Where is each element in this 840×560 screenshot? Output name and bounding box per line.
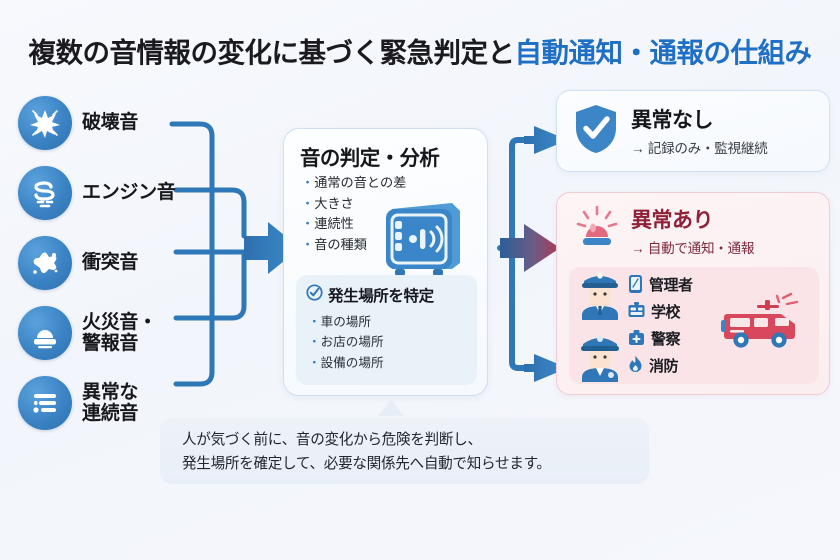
arrow-to-alert	[500, 224, 560, 272]
title-main: 複数の音情報の変化に基づく緊急判定と	[29, 37, 515, 68]
alarm-light-icon	[18, 306, 72, 360]
recipient-item-police[interactable]: 警察	[627, 326, 719, 353]
recipient-item-manager[interactable]: 管理者	[627, 272, 719, 299]
normal-subtitle: → 記録のみ・監視継続	[631, 137, 767, 157]
diagram-canvas: 複数の音情報の変化に基づく緊急判定と自動通知・通報の仕組み	[0, 0, 840, 560]
engine-icon	[18, 166, 72, 220]
caption-line-2: 発生場所を確定して、必要な関係先へ自動で知らせます。	[182, 453, 649, 477]
recipient-avatars	[569, 265, 627, 387]
title-accent: 自動通知・通報の仕組み	[515, 37, 812, 68]
normal-title: 異常なし	[631, 104, 767, 134]
source-label: 火災音・ 警報音	[82, 312, 157, 355]
analysis-title: 音の判定・分析	[300, 141, 439, 171]
alert-subtitle: → 自動で通知・通報	[631, 237, 754, 257]
locate-bullet: 設備の場所	[308, 353, 477, 373]
locate-heading: 発生場所を特定	[328, 284, 434, 306]
recipient-label: 管理者	[649, 278, 693, 293]
locate-subcard: 発生場所を特定 車の場所 お店の場所 設備の場所	[296, 275, 477, 385]
siren-icon	[573, 204, 621, 257]
locate-bullet: 車の場所	[308, 312, 477, 332]
caption-box: 人が気づく前に、音の変化から危険を判断し、 発生場所を確定して、必要な関係先へ自…	[160, 418, 649, 484]
source-label: エンジン音	[82, 182, 176, 203]
source-item-collision[interactable]: 衝突音	[18, 232, 208, 294]
source-item-destruction[interactable]: 破壊音	[18, 92, 208, 154]
locate-bullet: お店の場所	[308, 332, 477, 352]
smartphone-icon	[627, 274, 644, 297]
shield-check-icon	[573, 103, 619, 160]
source-label: 衝突音	[82, 252, 138, 273]
alert-title: 異常あり	[631, 204, 754, 234]
locate-bullets: 車の場所 お店の場所 設備の場所	[296, 308, 477, 373]
sound-safe-icon	[382, 201, 466, 284]
check-circle-icon	[306, 284, 323, 306]
analysis-card: 音の判定・分析 通常の音との差 大きさ 連続性 音の種類	[283, 128, 488, 396]
recipient-item-fire[interactable]: 消防	[627, 353, 719, 380]
police-box-icon	[627, 328, 646, 350]
waveform-icon	[18, 376, 72, 430]
recipient-label: 警察	[651, 332, 680, 347]
source-label: 破壊音	[82, 112, 138, 133]
alert-header: 異常あり → 自動で通知・通報	[557, 193, 829, 257]
caption-pointer-icon	[378, 400, 404, 416]
officer-avatar-1	[576, 265, 624, 325]
recipients-box: 管理者 学校	[569, 267, 819, 384]
recipients-list: 管理者 学校	[627, 272, 719, 380]
recipient-label: 消防	[649, 359, 678, 374]
caption-line-1: 人が気づく前に、音の変化から危険を判断し、	[182, 429, 649, 453]
sound-sources-list: 破壊音 エンジン音	[18, 92, 208, 442]
recipient-label: 学校	[651, 305, 680, 320]
collision-icon	[18, 236, 72, 290]
source-item-fire-alarm[interactable]: 火災音・ 警報音	[18, 302, 208, 364]
locate-heading-row: 発生場所を特定	[296, 275, 477, 308]
recipient-item-school[interactable]: 学校	[627, 299, 719, 326]
flame-icon	[627, 355, 644, 377]
outcome-panel-normal: 異常なし → 記録のみ・監視継続	[556, 90, 830, 172]
school-building-icon	[627, 301, 646, 323]
source-item-engine[interactable]: エンジン音	[18, 162, 208, 224]
source-label: 異常な 連続音	[82, 382, 138, 425]
analysis-bullet: 通常の音との差	[301, 173, 406, 194]
burst-icon	[18, 96, 72, 150]
page-title: 複数の音情報の変化に基づく緊急判定と自動通知・通報の仕組み	[0, 30, 840, 70]
officer-avatar-2	[576, 327, 624, 387]
fire-truck-icon	[721, 292, 813, 359]
outcome-panel-alert: 異常あり → 自動で通知・通報	[556, 192, 830, 395]
